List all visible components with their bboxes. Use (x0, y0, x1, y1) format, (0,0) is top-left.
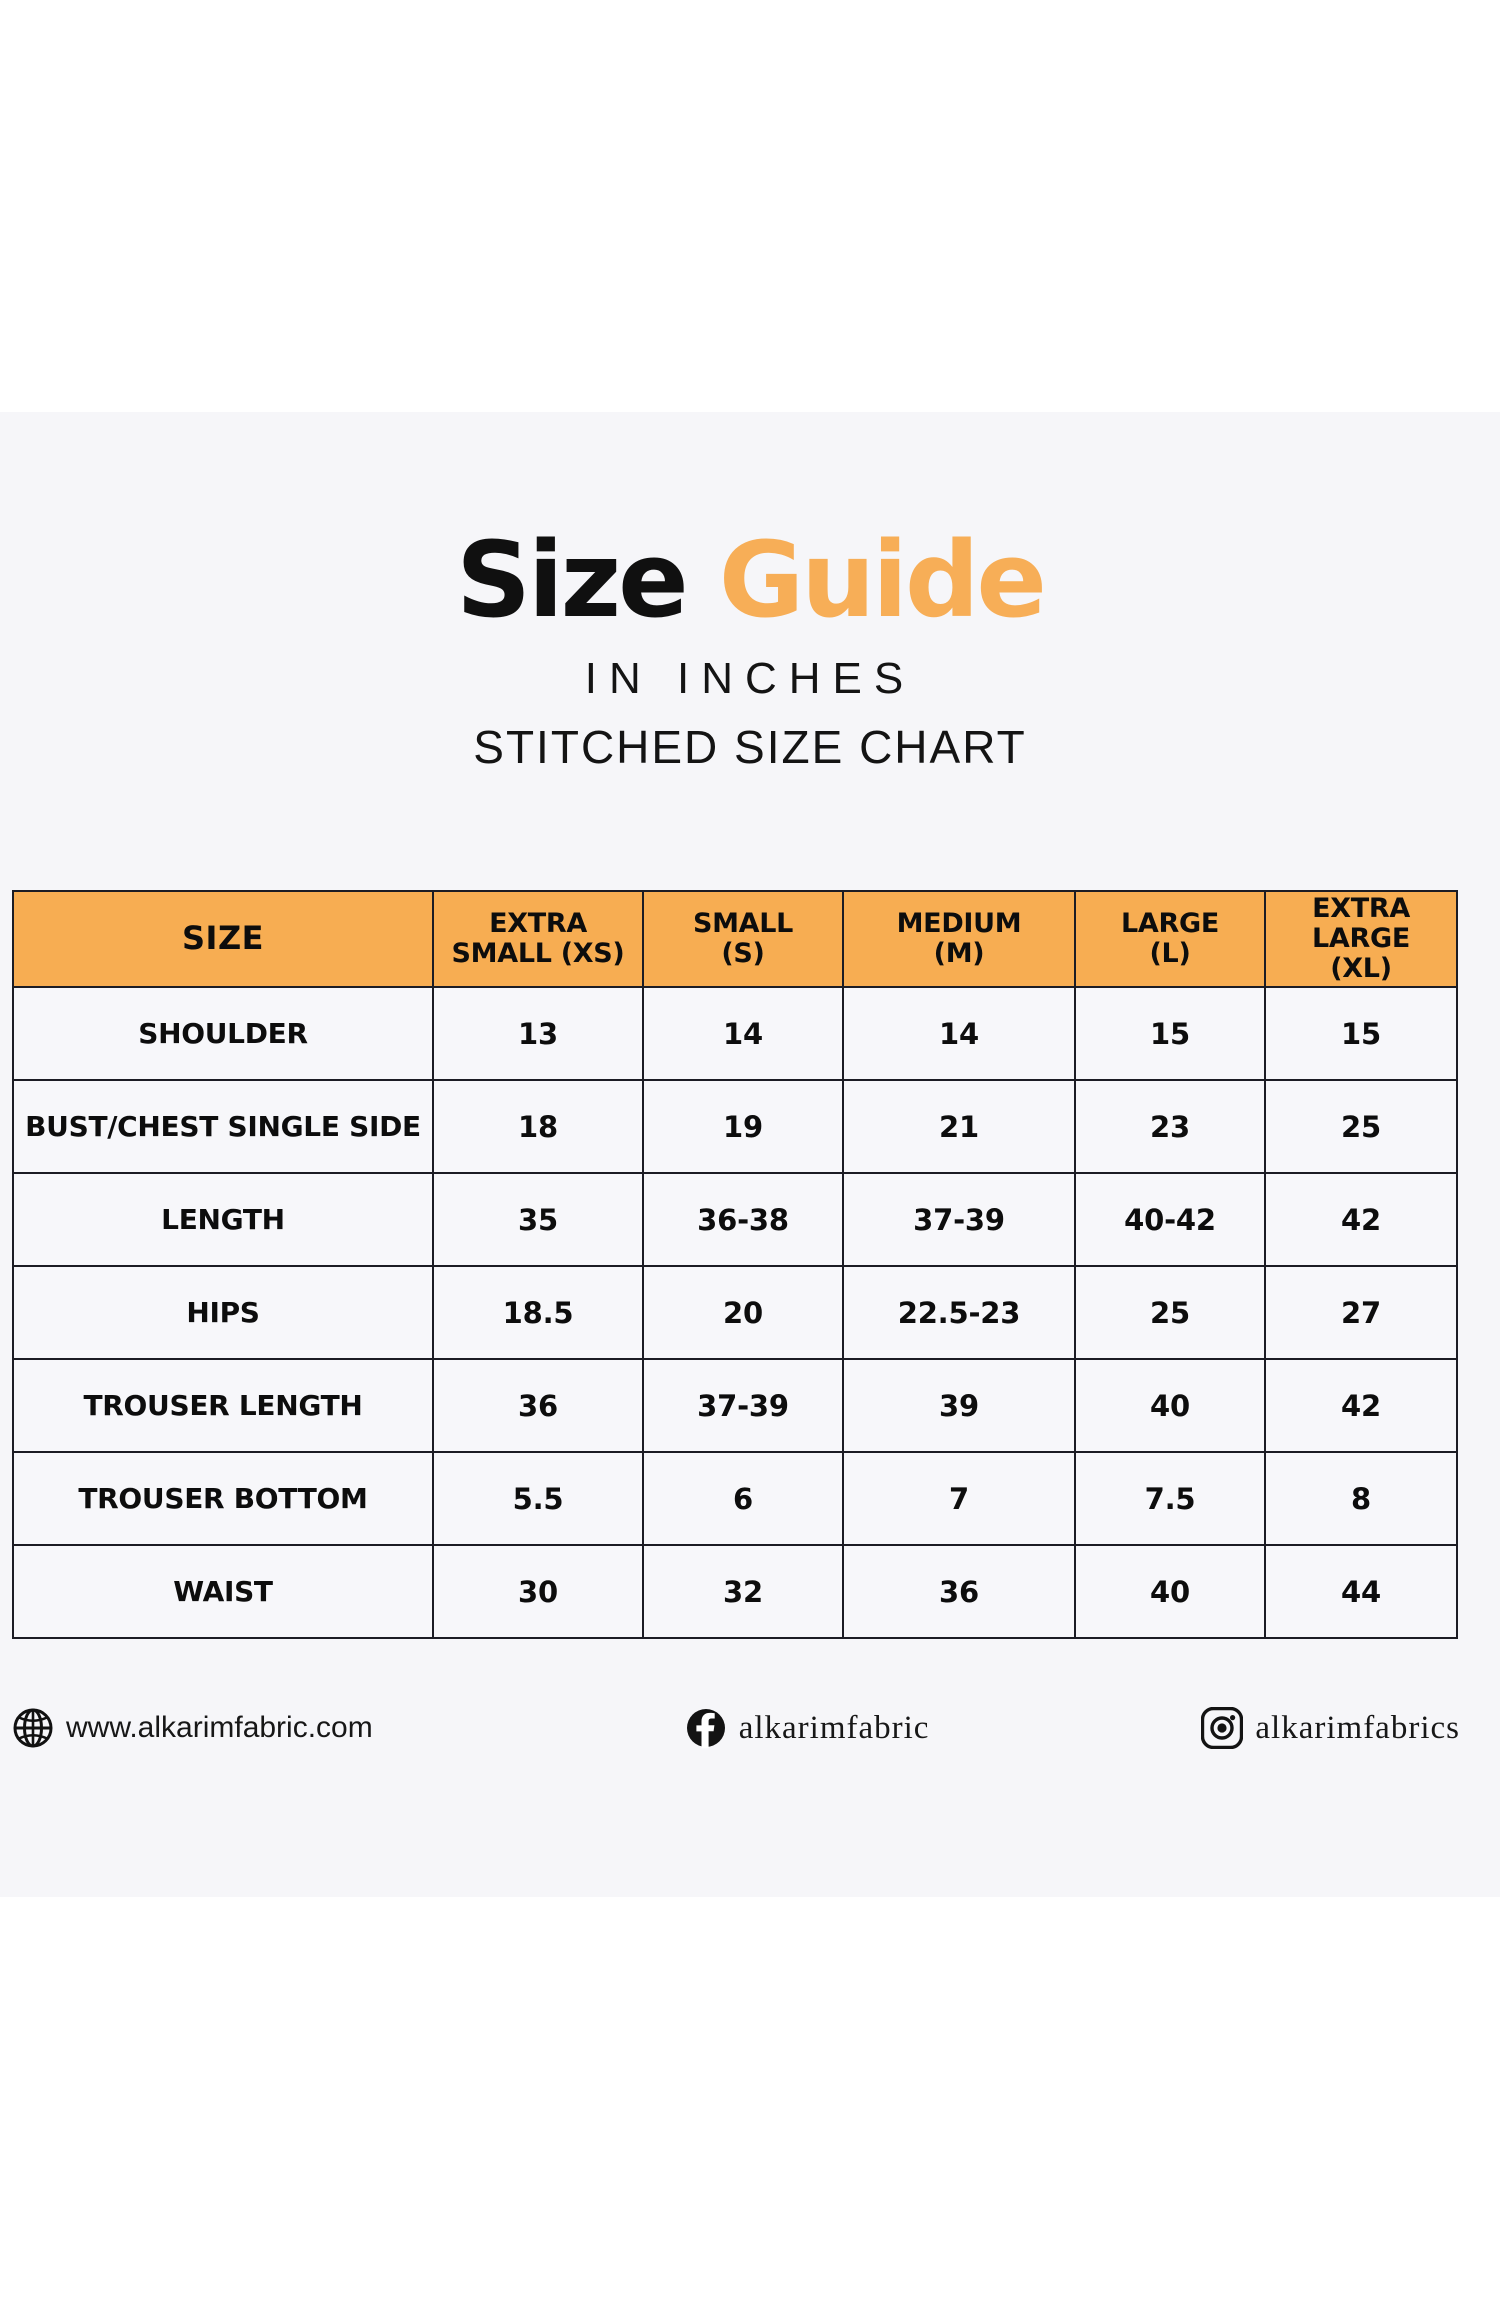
cell-trouser-bottom-l: 7.5 (1075, 1452, 1265, 1545)
header-m-line1: MEDIUM (897, 908, 1022, 939)
table-header: SIZE EXTRA SMALL (XS) SMALL (S) MEDIUM (… (13, 891, 1457, 987)
header-cell-m: MEDIUM (M) (843, 891, 1075, 987)
facebook-icon (685, 1707, 727, 1749)
subtitle-units: IN INCHES (0, 654, 1500, 704)
cell-trouser-length-xl: 42 (1265, 1359, 1457, 1452)
cell-waist-xs: 30 (433, 1545, 643, 1638)
cell-hips-m: 22.5-23 (843, 1266, 1075, 1359)
cell-trouser-bottom-s: 6 (643, 1452, 843, 1545)
globe-icon (12, 1707, 54, 1749)
cell-bust-s: 19 (643, 1080, 843, 1173)
table-row: BUST/CHEST SINGLE SIDE 18 19 21 23 25 (13, 1080, 1457, 1173)
header-cell-xl: EXTRA LARGE (XL) (1265, 891, 1457, 987)
table-row: TROUSER LENGTH 36 37-39 39 40 42 (13, 1359, 1457, 1452)
header-cell-xs: EXTRA SMALL (XS) (433, 891, 643, 987)
cell-trouser-length-m: 39 (843, 1359, 1075, 1452)
cell-shoulder-xs: 13 (433, 987, 643, 1080)
header-xl-line2: (XL) (1330, 953, 1392, 984)
footer-contact-bar: www.alkarimfabric.com alkarimfabric (12, 1688, 1464, 1768)
cell-shoulder-m: 14 (843, 987, 1075, 1080)
header-l-line1: LARGE (1121, 908, 1219, 939)
cell-waist-s: 32 (643, 1545, 843, 1638)
footer-facebook-label: alkarimfabric (739, 1710, 930, 1747)
table-body: SHOULDER 13 14 14 15 15 BUST/CHEST SINGL… (13, 987, 1457, 1638)
cell-bust-xl: 25 (1265, 1080, 1457, 1173)
cell-trouser-bottom-xl: 8 (1265, 1452, 1457, 1545)
footer-website-label: www.alkarimfabric.com (66, 1711, 373, 1745)
cell-hips-xl: 27 (1265, 1266, 1457, 1359)
cell-waist-xl: 44 (1265, 1545, 1457, 1638)
table-header-row: SIZE EXTRA SMALL (XS) SMALL (S) MEDIUM (… (13, 891, 1457, 987)
header-cell-s: SMALL (S) (643, 891, 843, 987)
footer-website[interactable]: www.alkarimfabric.com (12, 1707, 373, 1749)
cell-length-m: 37-39 (843, 1173, 1075, 1266)
row-label-shoulder: SHOULDER (13, 987, 433, 1080)
header-xl-line1: EXTRA LARGE (1312, 893, 1410, 954)
cell-trouser-bottom-m: 7 (843, 1452, 1075, 1545)
cell-length-xl: 42 (1265, 1173, 1457, 1266)
row-label-trouser-bottom: TROUSER BOTTOM (13, 1452, 433, 1545)
size-chart-table-wrapper: SIZE EXTRA SMALL (XS) SMALL (S) MEDIUM (… (12, 890, 1456, 1639)
page-title: Size Guide (0, 528, 1500, 632)
cell-trouser-length-l: 40 (1075, 1359, 1265, 1452)
row-label-waist: WAIST (13, 1545, 433, 1638)
cell-bust-m: 21 (843, 1080, 1075, 1173)
cell-bust-xs: 18 (433, 1080, 643, 1173)
size-chart-table: SIZE EXTRA SMALL (XS) SMALL (S) MEDIUM (… (12, 890, 1458, 1639)
cell-trouser-length-xs: 36 (433, 1359, 643, 1452)
table-row: LENGTH 35 36-38 37-39 40-42 42 (13, 1173, 1457, 1266)
table-row: HIPS 18.5 20 22.5-23 25 27 (13, 1266, 1457, 1359)
cell-waist-m: 36 (843, 1545, 1075, 1638)
row-label-bust-chest: BUST/CHEST SINGLE SIDE (13, 1080, 433, 1173)
cell-shoulder-l: 15 (1075, 987, 1265, 1080)
header-xs-line2: SMALL (XS) (452, 938, 625, 969)
cell-trouser-bottom-xs: 5.5 (433, 1452, 643, 1545)
header-cell-l: LARGE (L) (1075, 891, 1265, 987)
cell-length-s: 36-38 (643, 1173, 843, 1266)
cell-length-xs: 35 (433, 1173, 643, 1266)
header-m-line2: (M) (934, 938, 985, 969)
row-label-hips: HIPS (13, 1266, 433, 1359)
cell-bust-l: 23 (1075, 1080, 1265, 1173)
cell-shoulder-xl: 15 (1265, 987, 1457, 1080)
header-s-line1: SMALL (693, 908, 793, 939)
cell-waist-l: 40 (1075, 1545, 1265, 1638)
cell-trouser-length-s: 37-39 (643, 1359, 843, 1452)
cell-length-l: 40-42 (1075, 1173, 1265, 1266)
subtitle-chart: STITCHED SIZE CHART (0, 720, 1500, 774)
footer-instagram[interactable]: alkarimfabrics (1201, 1707, 1460, 1749)
table-row: WAIST 30 32 36 40 44 (13, 1545, 1457, 1638)
cell-hips-s: 20 (643, 1266, 843, 1359)
row-label-length: LENGTH (13, 1173, 433, 1266)
title-word-guide: Guide (719, 519, 1044, 641)
header-cell-size: SIZE (13, 891, 433, 987)
title-block: Size Guide IN INCHES STITCHED SIZE CHART (0, 528, 1500, 774)
cell-hips-xs: 18.5 (433, 1266, 643, 1359)
table-row: SHOULDER 13 14 14 15 15 (13, 987, 1457, 1080)
row-label-trouser-length: TROUSER LENGTH (13, 1359, 433, 1452)
table-row: TROUSER BOTTOM 5.5 6 7 7.5 8 (13, 1452, 1457, 1545)
instagram-icon (1201, 1707, 1243, 1749)
page-root: Size Guide IN INCHES STITCHED SIZE CHART… (0, 0, 1500, 2300)
cell-shoulder-s: 14 (643, 987, 843, 1080)
footer-facebook[interactable]: alkarimfabric (685, 1707, 930, 1749)
title-word-size: Size (456, 519, 686, 641)
header-s-line2: (S) (721, 938, 764, 969)
header-l-line2: (L) (1150, 938, 1191, 969)
footer-instagram-label: alkarimfabrics (1255, 1710, 1460, 1747)
header-xs-line1: EXTRA (489, 908, 587, 939)
cell-hips-l: 25 (1075, 1266, 1265, 1359)
